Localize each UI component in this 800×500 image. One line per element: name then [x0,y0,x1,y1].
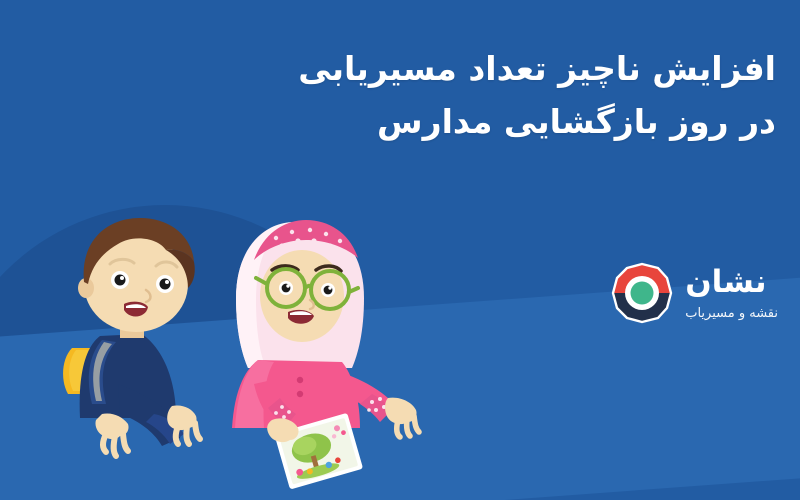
neshan-tagline: نقشه و مسیریاب [685,307,778,320]
banner-root: افزایش ناچیز تعداد مسیریابی در روز بازگش… [0,0,800,500]
boy-figure [63,218,200,456]
neshan-pin-logo-icon [611,262,673,324]
children-illustration [58,208,428,500]
headline-line-1: افزایش ناچیز تعداد مسیریابی [176,46,776,93]
neshan-wordmark: نشان [685,267,766,298]
headline: افزایش ناچیز تعداد مسیریابی در روز بازگش… [176,46,776,146]
headline-line-2: در روز بازگشایی مدارس [176,99,776,146]
neshan-logo[interactable]: نشان نقشه و مسیریاب [611,262,778,324]
neshan-logo-text: نشان نقشه و مسیریاب [685,267,778,320]
picture-book [267,413,363,490]
girl-figure [232,220,419,490]
